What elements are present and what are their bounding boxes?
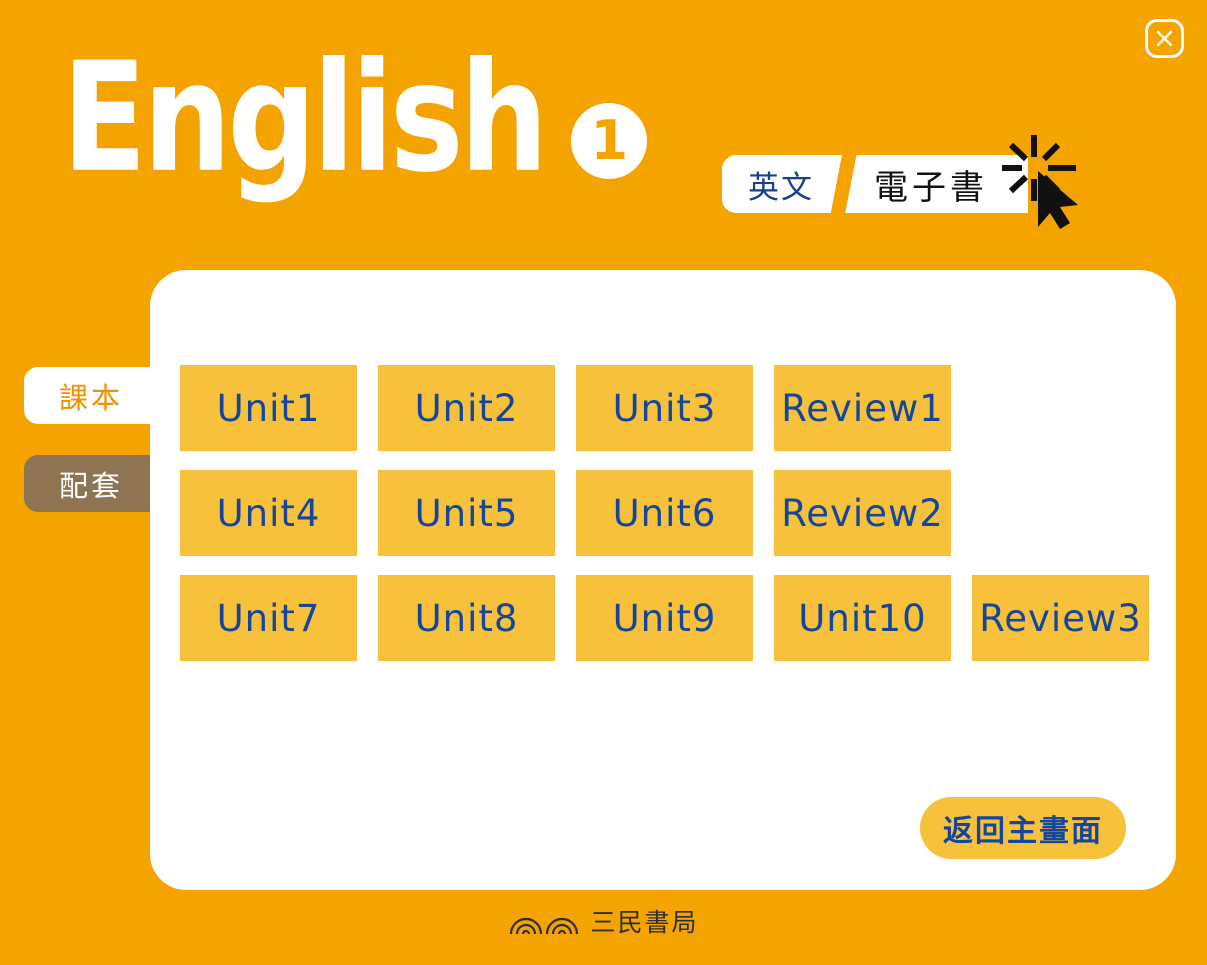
logo-volume-badge: 1 bbox=[571, 103, 647, 179]
unit-button-review2[interactable]: Review2 bbox=[774, 470, 951, 556]
unit-button-review1[interactable]: Review1 bbox=[774, 365, 951, 451]
close-x-icon bbox=[1148, 22, 1181, 55]
unit-button-unit5[interactable]: Unit5 bbox=[378, 470, 555, 556]
badge-subject-label: 英文 bbox=[748, 162, 814, 207]
unit-button-unit8[interactable]: Unit8 bbox=[378, 575, 555, 661]
app-logo: English 1 bbox=[62, 55, 647, 183]
sidebar-tabs: 課本 配套 bbox=[24, 367, 164, 512]
unit-button-unit10[interactable]: Unit10 bbox=[774, 575, 951, 661]
unit-grid-row: Unit7 Unit8 Unit9 Unit10 Review3 bbox=[180, 575, 1160, 661]
close-button[interactable] bbox=[1145, 19, 1184, 58]
unit-grid-row: Unit1 Unit2 Unit3 Review1 bbox=[180, 365, 1160, 451]
unit-grid-row: Unit4 Unit5 Unit6 Review2 bbox=[180, 470, 1160, 556]
unit-button-unit2[interactable]: Unit2 bbox=[378, 365, 555, 451]
back-to-home-button[interactable]: 返回主畫面 bbox=[920, 797, 1126, 859]
unit-button-unit3[interactable]: Unit3 bbox=[576, 365, 753, 451]
content-panel: Unit1 Unit2 Unit3 Review1 Unit4 Unit5 Un… bbox=[150, 270, 1176, 890]
unit-button-unit1[interactable]: Unit1 bbox=[180, 365, 357, 451]
unit-button-unit9[interactable]: Unit9 bbox=[576, 575, 753, 661]
footer-publisher-logo: 三民書局 bbox=[0, 903, 1207, 939]
badge-type-label: 電子書 bbox=[874, 160, 988, 209]
sidebar-item-textbook[interactable]: 課本 bbox=[24, 367, 164, 424]
unit-grid: Unit1 Unit2 Unit3 Review1 Unit4 Unit5 Un… bbox=[180, 365, 1160, 661]
badge-separator-slash bbox=[830, 155, 864, 213]
publisher-name: 三民書局 bbox=[590, 903, 698, 939]
badge-type: 電子書 bbox=[864, 155, 1028, 213]
unit-button-review3[interactable]: Review3 bbox=[972, 575, 1149, 661]
unit-button-unit6[interactable]: Unit6 bbox=[576, 470, 753, 556]
double-arch-icon bbox=[508, 906, 580, 936]
badge-subject: 英文 bbox=[722, 155, 830, 213]
logo-wordmark: English bbox=[62, 43, 544, 194]
unit-button-unit4[interactable]: Unit4 bbox=[180, 470, 357, 556]
subject-badge: 英文 電子書 bbox=[722, 155, 1028, 213]
sidebar-item-supplement[interactable]: 配套 bbox=[24, 455, 164, 512]
unit-button-unit7[interactable]: Unit7 bbox=[180, 575, 357, 661]
